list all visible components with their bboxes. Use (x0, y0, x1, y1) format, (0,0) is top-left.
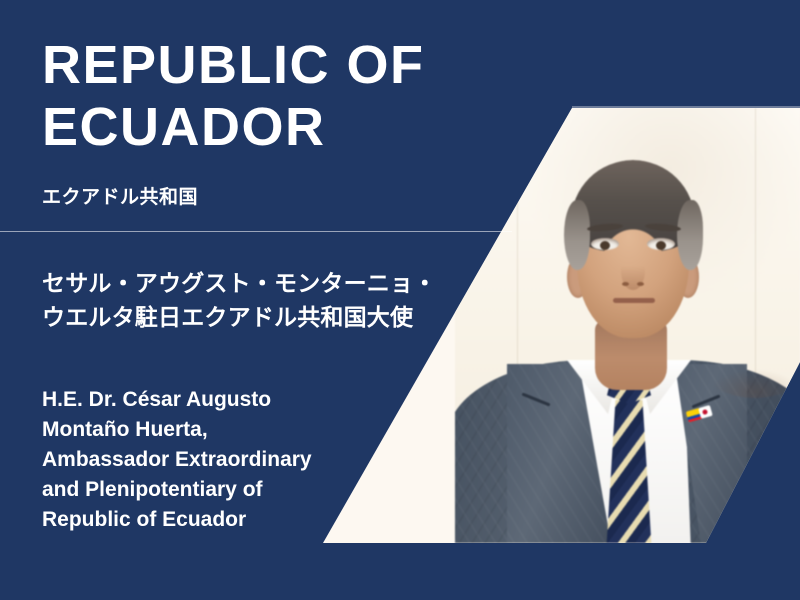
ambassador-name-english-line-3: Ambassador Extraordinary (42, 445, 372, 475)
eye-right (647, 238, 675, 250)
japan-flag-pin-icon (698, 405, 713, 419)
ambassador-name-english-line-5: Republic of Ecuador (42, 505, 372, 535)
ambassador-name-english-line-1: H.E. Dr. César Augusto (42, 385, 372, 415)
page-title: REPUBLIC OF ECUADOR (42, 34, 512, 158)
ambassador-name-english-line-4: and Plenipotentiary of (42, 475, 372, 505)
iris-right (656, 241, 666, 250)
ambassador-name-english-line-2: Montaño Huerta, (42, 415, 372, 445)
iris-left (600, 241, 610, 250)
country-name-japanese: エクアドル共和国 (42, 182, 198, 209)
nostril-left (622, 282, 629, 286)
hair-temple-right (677, 200, 703, 270)
ambassador-name-japanese-line-2: ウエルタ駐日エクアドル共和国大使 (42, 300, 512, 334)
text-column: REPUBLIC OF ECUADOR エクアドル共和国 セサル・アウグスト・モ… (0, 0, 560, 600)
nostril-right (637, 282, 644, 286)
photo-top-edge (572, 106, 800, 108)
eye-left (591, 238, 619, 250)
page-title-line-1: REPUBLIC OF (42, 34, 512, 96)
mouth (613, 298, 655, 303)
hair-temple-left (564, 200, 590, 270)
ambassador-name-japanese: セサル・アウグスト・モンターニョ・ ウエルタ駐日エクアドル共和国大使 (42, 266, 512, 334)
nose (621, 250, 645, 290)
jaw-shadow (703, 336, 800, 398)
page-title-line-2: ECUADOR (42, 96, 512, 158)
divider (0, 231, 512, 232)
ambassador-name-english: H.E. Dr. César Augusto Montaño Huerta, A… (42, 385, 372, 535)
ambassador-profile-card: REPUBLIC OF ECUADOR エクアドル共和国 セサル・アウグスト・モ… (0, 0, 800, 600)
ambassador-name-japanese-line-1: セサル・アウグスト・モンターニョ・ (42, 266, 512, 300)
